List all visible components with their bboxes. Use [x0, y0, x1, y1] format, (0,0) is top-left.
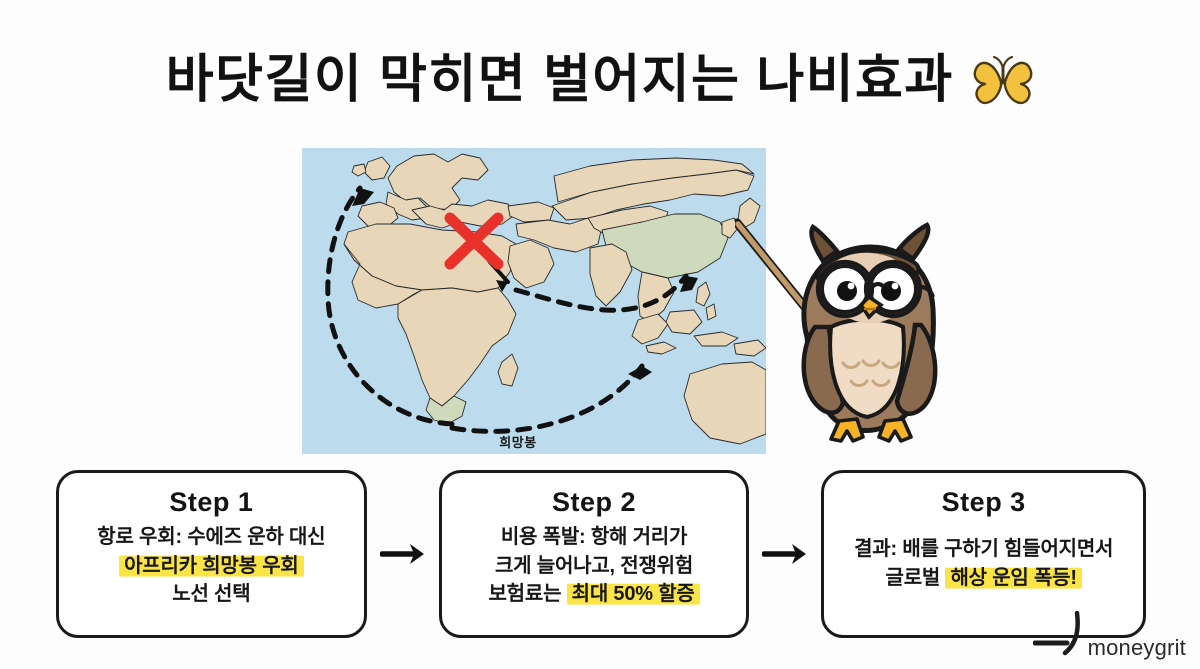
step-2-line-3-prefix: 보험료는	[488, 583, 566, 605]
step-3-line-1: 결과: 배를 구하기 힘들어지면서	[854, 536, 1113, 564]
step-1-line-3-text: 노선 선택	[172, 583, 250, 605]
pointer-stick	[737, 223, 813, 317]
steps-flow: Step 1 항로 우회: 수에즈 운하 대신 아프리카 희망봉 우회 노선 선…	[56, 470, 1146, 638]
step-3-body: 결과: 배를 구하기 힘들어지면서 글로벌 해상 운임 폭등!	[854, 536, 1113, 592]
step-2-line-2: 크게 늘어나고, 전쟁위험	[495, 553, 693, 581]
step-1-highlight: 아프리카 희망봉 우회	[119, 554, 304, 578]
step-3-heading: Step 3	[942, 487, 1026, 518]
step-3-line-2-prefix: 글로벌	[886, 567, 946, 589]
owl-teacher-illustration	[735, 205, 990, 455]
step-card-1[interactable]: Step 1 항로 우회: 수에즈 운하 대신 아프리카 희망봉 우회 노선 선…	[56, 470, 367, 638]
watermark: moneygrit	[1033, 605, 1186, 661]
owl-pupil-right	[881, 281, 901, 301]
owl-ear-tuft-left	[811, 227, 837, 261]
owl-eye-glint-left	[848, 283, 855, 290]
step-1-line-1-text: 항로 우회: 수에즈 운하 대신	[97, 526, 325, 548]
owl-eye-glint-right	[892, 283, 899, 290]
slide-canvas: 바닷길이 막히면 벌어지는 나비효과	[0, 0, 1200, 669]
step-2-highlight: 최대 50% 할증	[567, 582, 700, 606]
step-2-line-1: 비용 폭발: 항해 거리가	[501, 524, 687, 552]
arrow-right-icon	[380, 541, 426, 567]
step-card-2[interactable]: Step 2 비용 폭발: 항해 거리가 크게 늘어나고, 전쟁위험 보험료는 …	[439, 470, 750, 638]
map-illustration	[302, 148, 766, 454]
map-caption-text: 희망봉	[499, 432, 536, 451]
watermark-text: moneygrit	[1088, 637, 1186, 661]
page-title: 바닷길이 막히면 벌어지는 나비효과	[0, 52, 1200, 109]
step-1-line-1: 항로 우회: 수에즈 운하 대신	[97, 524, 325, 552]
step-2-line-1-text: 비용 폭발: 항해 거리가	[501, 526, 687, 548]
arrow-step2-to-step3	[749, 541, 821, 567]
owl-svg	[735, 205, 990, 455]
step-3-line-1-text: 결과: 배를 구하기 힘들어지면서	[854, 538, 1113, 560]
world-shipping-route-map: 희망봉	[302, 148, 766, 454]
moneygrit-logo-mark	[1033, 611, 1085, 661]
step-1-line-2: 아프리카 희망봉 우회	[119, 553, 304, 581]
step-2-line-2-text: 크게 늘어나고, 전쟁위험	[495, 555, 693, 577]
owl-pupil-left	[837, 281, 857, 301]
page-title-text: 바닷길이 막히면 벌어지는 나비효과	[166, 52, 954, 109]
step-2-body: 비용 폭발: 항해 거리가 크게 늘어나고, 전쟁위험 보험료는 최대 50% …	[488, 524, 699, 609]
step-2-line-3: 보험료는 최대 50% 할증	[488, 581, 699, 609]
step-1-heading: Step 1	[169, 487, 253, 518]
step-1-body: 항로 우회: 수에즈 운하 대신 아프리카 희망봉 우회 노선 선택	[97, 524, 325, 609]
owl-ear-tuft-right	[899, 225, 928, 259]
butterfly-icon	[972, 53, 1034, 109]
step-2-heading: Step 2	[552, 487, 636, 518]
map-caption: 희망봉	[302, 432, 766, 451]
arrow-step1-to-step2	[367, 541, 439, 567]
arrow-right-icon	[762, 541, 808, 567]
step-3-line-2: 글로벌 해상 운임 폭등!	[886, 565, 1082, 593]
step-1-line-3: 노선 선택	[172, 581, 250, 609]
step-3-highlight: 해상 운임 폭등!	[945, 566, 1081, 590]
